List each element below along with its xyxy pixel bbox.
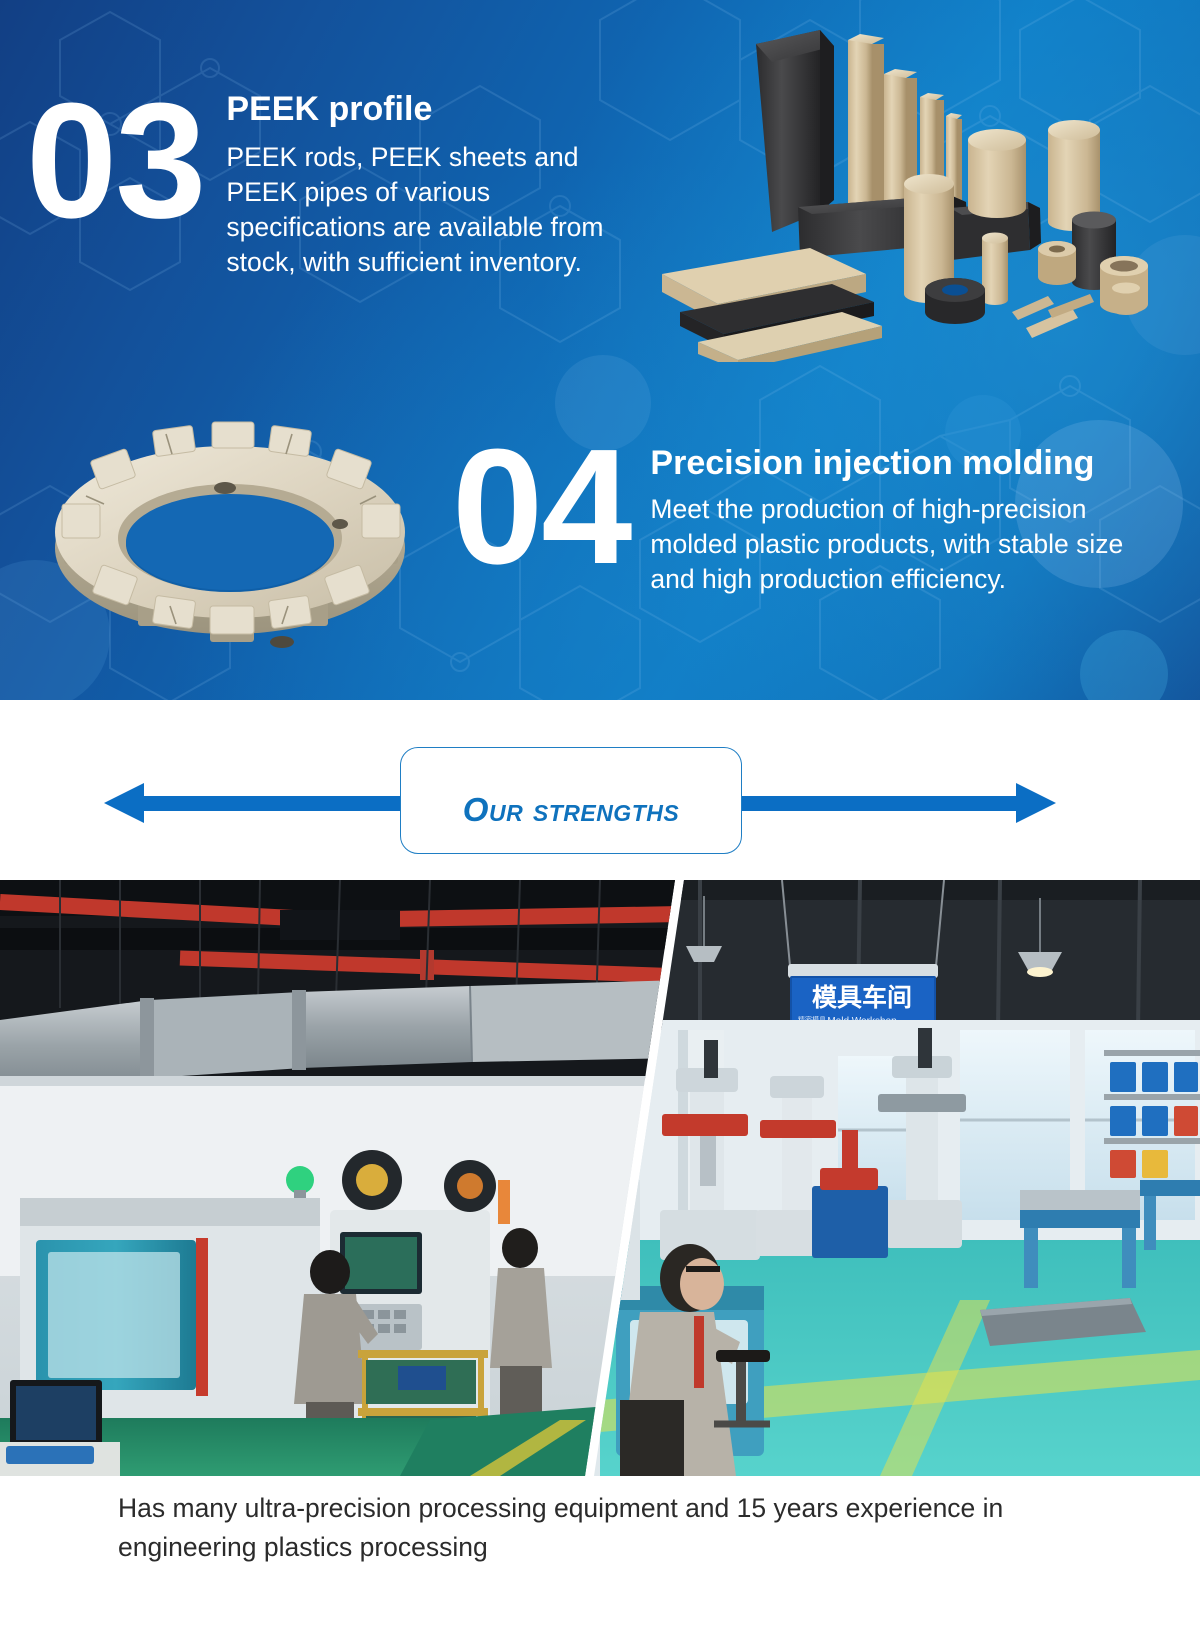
feature-title: Precision injection molding <box>650 446 1130 482</box>
feature-block-04: 04 Precision injection molding Meet the … <box>452 432 1130 597</box>
feature-number: 04 <box>452 432 630 597</box>
strengths-label: Our strengths <box>463 791 679 829</box>
factory-photo-strip: 模具车间 Mold Workshop 精密模具 <box>0 880 1200 1476</box>
feature-body: Meet the production of high-precision mo… <box>650 492 1130 598</box>
hero-panel: 03 PEEK profile PEEK rods, PEEK sheets a… <box>0 0 1200 700</box>
feature-body: PEEK rods, PEEK sheets and PEEK pipes of… <box>226 140 656 281</box>
caption-text: Has many ultra-precision processing equi… <box>0 1489 1200 1567</box>
feature-number: 03 <box>26 86 204 281</box>
peek-gear-ring-image <box>20 392 440 672</box>
feature-title: PEEK profile <box>226 92 656 128</box>
photo-cnc-workshop <box>0 880 684 1476</box>
peek-products-image <box>620 12 1180 362</box>
feature-block-03: 03 PEEK profile PEEK rods, PEEK sheets a… <box>26 86 656 281</box>
svg-text:模具车间: 模具车间 <box>812 983 912 1012</box>
strengths-label-box: Our strengths <box>400 747 742 854</box>
